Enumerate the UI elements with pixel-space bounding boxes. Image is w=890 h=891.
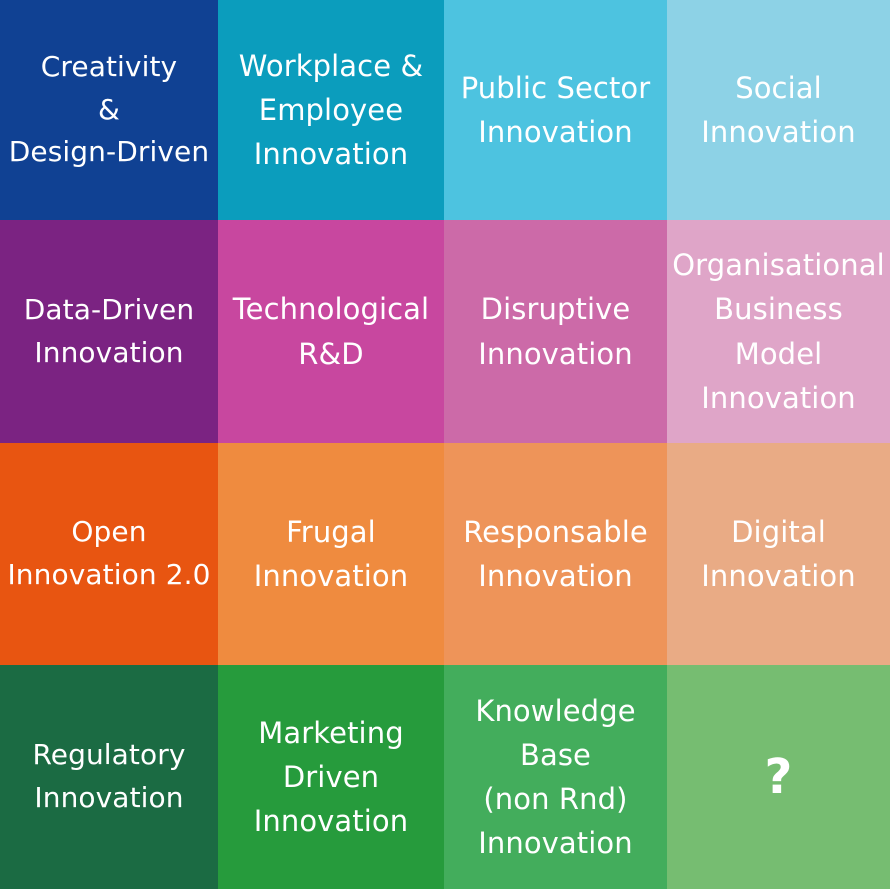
matrix-cell-marketing-driven-innovation[interactable]: Marketing Driven Innovation [218,665,444,889]
matrix-cell-workplace-employee-innovation[interactable]: Workplace & Employee Innovation [218,0,444,220]
matrix-cell-digital-innovation[interactable]: Digital Innovation [667,443,890,665]
innovation-matrix: Creativity & Design-Driven Workplace & E… [0,0,890,891]
matrix-cell-label: Disruptive Innovation [478,287,633,375]
matrix-cell-data-driven-innovation[interactable]: Data-Driven Innovation [0,220,218,443]
matrix-cell-technological-rnd[interactable]: Technological R&D [218,220,444,443]
matrix-cell-label: Digital Innovation [701,510,856,598]
matrix-cell-label: Open Innovation 2.0 [7,511,210,596]
matrix-cell-label: Regulatory Innovation [32,734,185,819]
matrix-cell-label: Frugal Innovation [254,510,409,598]
matrix-cell-label: Data-Driven Innovation [24,289,194,374]
matrix-cell-label: Marketing Driven Innovation [254,711,409,843]
matrix-cell-creativity-design-driven[interactable]: Creativity & Design-Driven [0,0,218,220]
matrix-cell-label: Social Innovation [701,66,856,154]
matrix-cell-label: Responsable Innovation [463,510,648,598]
question-mark-icon: ? [765,753,793,801]
matrix-cell-label: Creativity & Design-Driven [9,46,209,174]
matrix-cell-public-sector-innovation[interactable]: Public Sector Innovation [444,0,667,220]
matrix-cell-label: Technological R&D [233,287,429,375]
matrix-cell-unknown-placeholder[interactable]: ? [667,665,890,889]
matrix-cell-frugal-innovation[interactable]: Frugal Innovation [218,443,444,665]
matrix-cell-disruptive-innovation[interactable]: Disruptive Innovation [444,220,667,443]
matrix-cell-responsable-innovation[interactable]: Responsable Innovation [444,443,667,665]
matrix-cell-label: Public Sector Innovation [461,66,651,154]
matrix-cell-social-innovation[interactable]: Social Innovation [667,0,890,220]
matrix-cell-regulatory-innovation[interactable]: Regulatory Innovation [0,665,218,889]
matrix-cell-label: Knowledge Base (non Rnd) Innovation [475,689,635,865]
matrix-cell-label: Workplace & Employee Innovation [239,44,423,176]
matrix-cell-label: Organisational Business Model Innovation [672,243,885,419]
matrix-cell-open-innovation-2-0[interactable]: Open Innovation 2.0 [0,443,218,665]
matrix-cell-knowledge-base-non-rnd-innovation[interactable]: Knowledge Base (non Rnd) Innovation [444,665,667,889]
matrix-cell-organisational-business-model-innovation[interactable]: Organisational Business Model Innovation [667,220,890,443]
